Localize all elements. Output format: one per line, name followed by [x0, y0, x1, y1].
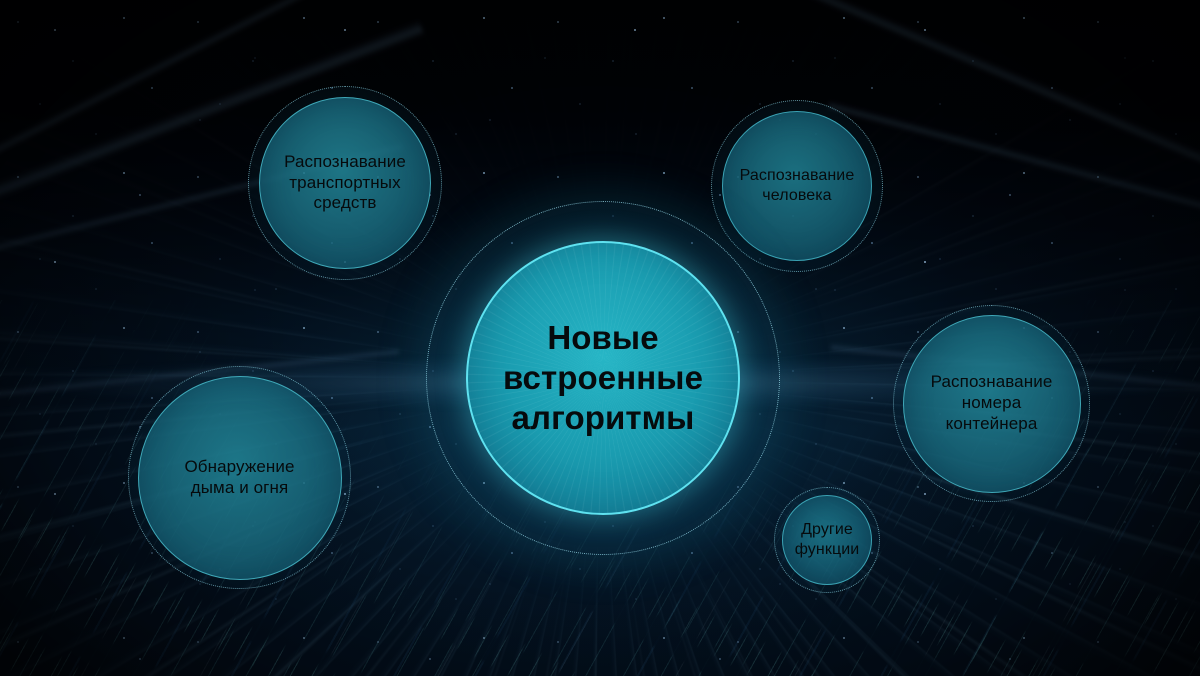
slide-canvas: Распознавание транспортных средств Распо…	[0, 0, 1200, 676]
node-container-number-recognition-label: Распознавание номера контейнера	[927, 372, 1057, 434]
node-container-number-recognition-core: Распознавание номера контейнера	[903, 315, 1081, 493]
node-human-recognition[interactable]: Распознавание человека	[711, 100, 883, 272]
node-other-functions-label: Другие функции	[783, 520, 871, 559]
node-new-built-in-algorithms-core: Новые встроенные алгоритмы	[466, 241, 740, 515]
node-other-functions[interactable]: Другие функции	[774, 487, 880, 593]
node-vehicle-recognition[interactable]: Распознавание транспортных средств	[248, 86, 442, 280]
node-other-functions-core: Другие функции	[782, 495, 872, 585]
node-human-recognition-core: Распознавание человека	[722, 111, 872, 261]
node-new-built-in-algorithms[interactable]: Новые встроенные алгоритмы	[426, 201, 780, 555]
node-smoke-fire-detection-core: Обнаружение дыма и огня	[138, 376, 342, 580]
node-vehicle-recognition-label: Распознавание транспортных средств	[280, 152, 410, 214]
node-new-built-in-algorithms-label: Новые встроенные алгоритмы	[499, 318, 707, 439]
node-vehicle-recognition-core: Распознавание транспортных средств	[259, 97, 431, 269]
node-smoke-fire-detection[interactable]: Обнаружение дыма и огня	[128, 366, 351, 589]
node-container-number-recognition[interactable]: Распознавание номера контейнера	[893, 305, 1090, 502]
node-smoke-fire-detection-label: Обнаружение дыма и огня	[180, 457, 298, 498]
node-human-recognition-label: Распознавание человека	[736, 166, 859, 205]
